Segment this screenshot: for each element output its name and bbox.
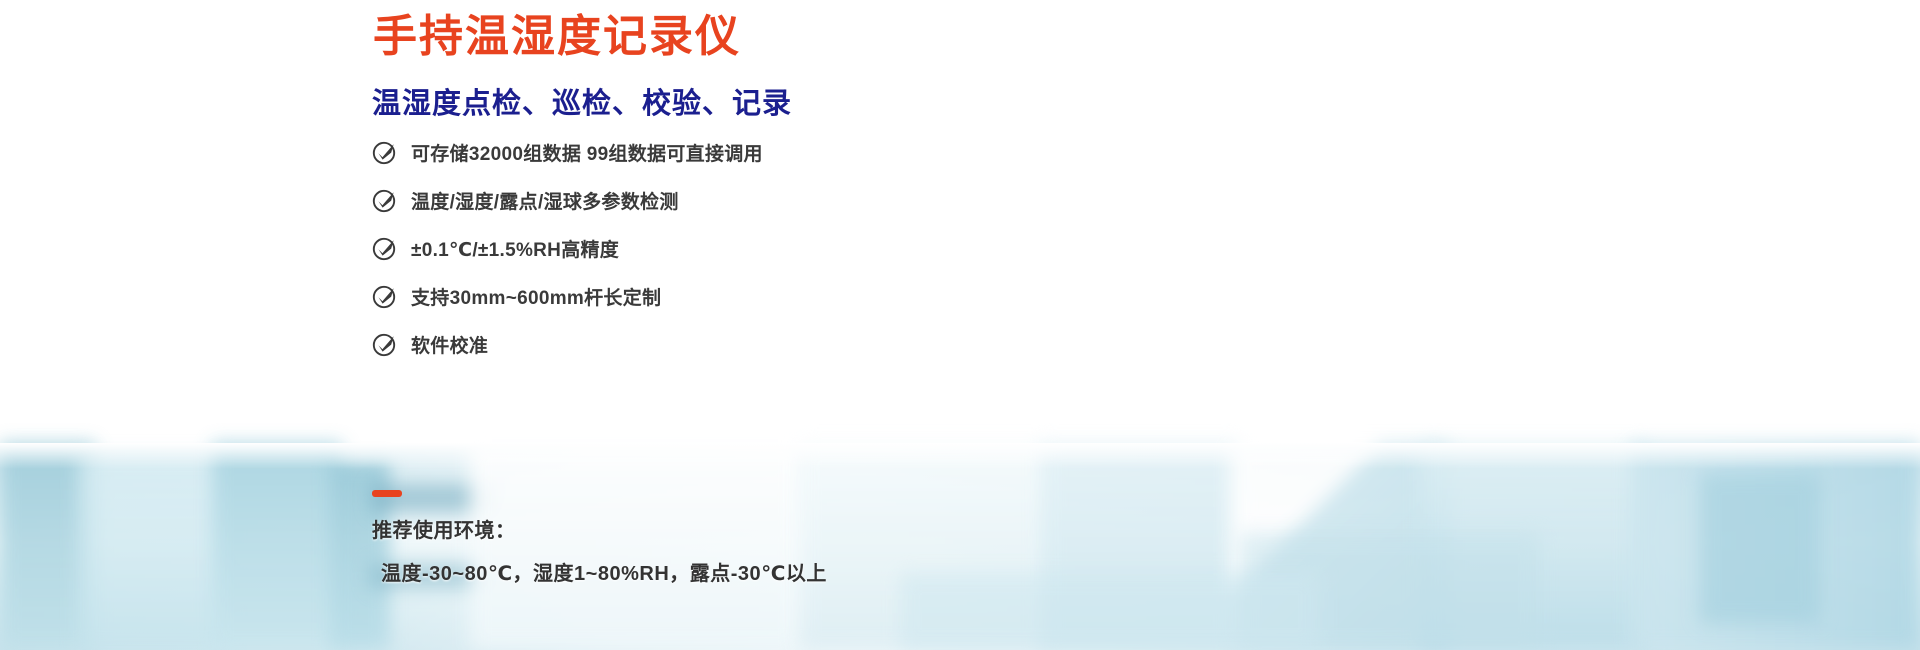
- check-circle-icon: [372, 332, 397, 357]
- list-item: 支持30mm~600mm杆长定制: [372, 274, 992, 318]
- check-circle-icon: [372, 188, 397, 213]
- text-column: 手持温湿度记录仪 温湿度点检、巡检、校验、记录 可存储32000组数据 99组数…: [0, 0, 1000, 650]
- list-item: 可存储32000组数据 99组数据可直接调用: [372, 130, 992, 174]
- page-title: 手持温湿度记录仪: [373, 14, 741, 60]
- feature-label: ±0.1℃/±1.5%RH高精度: [411, 235, 619, 262]
- check-circle-icon: [372, 236, 397, 261]
- list-item: ±0.1℃/±1.5%RH高精度: [372, 226, 992, 270]
- red-divider-dash: [372, 490, 402, 497]
- environment-title: 推荐使用环境：: [372, 514, 827, 543]
- feature-label: 支持30mm~600mm杆长定制: [411, 283, 661, 310]
- product-image-area: 可拆换探头 HENGKO 52.0 % RH 28.08 ℃ ⏻ HG970 M…: [960, 0, 1920, 650]
- feature-label: 可存储32000组数据 99组数据可直接调用: [411, 139, 763, 166]
- page-subtitle: 温湿度点检、巡检、校验、记录: [372, 80, 792, 122]
- feature-label: 温度/湿度/露点/湿球多参数检测: [411, 187, 679, 214]
- check-circle-icon: [372, 140, 397, 165]
- product-banner: 手持温湿度记录仪 温湿度点检、巡检、校验、记录 可存储32000组数据 99组数…: [0, 0, 1920, 650]
- environment-block: 推荐使用环境： 温度-30~80℃，湿度1~80%RH，露点-30℃以上: [372, 490, 827, 586]
- feature-list: 可存储32000组数据 99组数据可直接调用 温度/湿度/露点/湿球多参数检测: [372, 130, 992, 370]
- list-item: 温度/湿度/露点/湿球多参数检测: [372, 178, 992, 222]
- feature-label: 软件校准: [411, 331, 488, 358]
- list-item: 软件校准: [372, 322, 992, 366]
- environment-spec: 温度-30~80℃，湿度1~80%RH，露点-30℃以上: [372, 557, 827, 586]
- check-circle-icon: [372, 284, 397, 309]
